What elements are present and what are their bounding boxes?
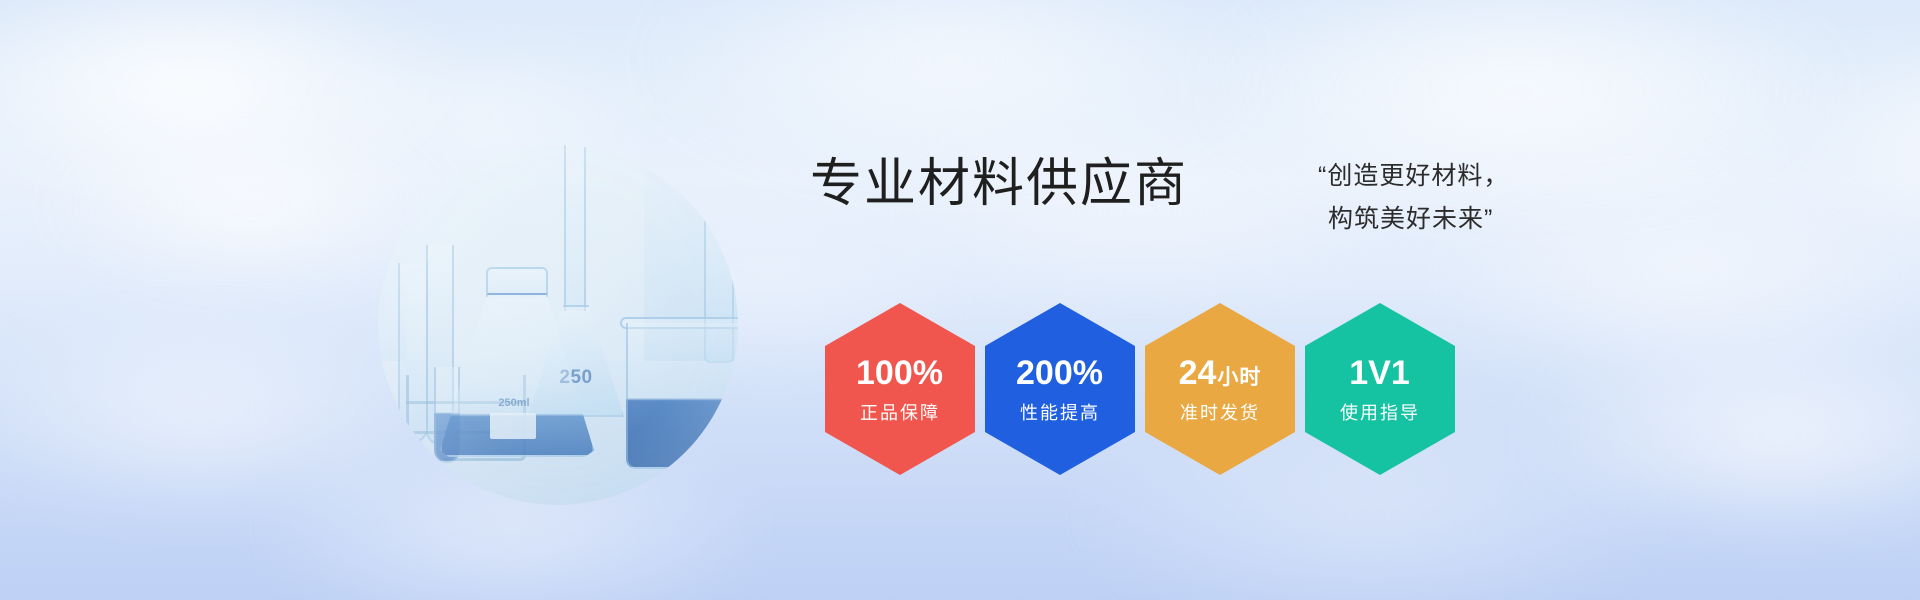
badge-label: 使用指导: [1340, 404, 1420, 422]
photo-background: 250 250ml: [378, 145, 738, 505]
badge-value: 1V1: [1349, 356, 1411, 390]
slogan-quote: “创造更好材料， 构筑美好未来”: [1318, 155, 1509, 241]
cloud-layer: [0, 0, 1920, 600]
cloud-shape: [1520, 330, 1920, 540]
badge-number: 200: [1016, 356, 1073, 390]
slogan-line-2: 构筑美好未来”: [1318, 198, 1509, 241]
badge-label: 性能提高: [1020, 404, 1100, 422]
badge-label: 正品保障: [860, 404, 940, 422]
badge-unit: 小时: [1217, 367, 1261, 388]
badge-performance[interactable]: 200% 性能提高: [985, 303, 1135, 475]
badge-guidance[interactable]: 1V1 使用指导: [1305, 303, 1455, 475]
badge-symbol: %: [1073, 356, 1103, 390]
cloud-shape: [1790, 40, 1920, 240]
photo-blue-tint-overlay: [378, 145, 738, 505]
badge-value: 200%: [1016, 356, 1104, 390]
badge-number: 100: [856, 356, 913, 390]
badge-number: 24: [1179, 356, 1217, 390]
badge-shipping[interactable]: 24小时 准时发货: [1145, 303, 1295, 475]
badge-label: 准时发货: [1180, 404, 1260, 422]
slogan-line-1: “创造更好材料，: [1318, 162, 1509, 190]
feature-badge-row: 100% 正品保障 200% 性能提高 24小时 准时发货 1V1 使用指导: [825, 303, 1455, 475]
cloud-shape: [1180, 0, 1860, 220]
badge-value: 100%: [856, 356, 944, 390]
badge-authenticity[interactable]: 100% 正品保障: [825, 303, 975, 475]
badge-value: 24小时: [1179, 356, 1262, 390]
hero-banner: 250 250ml 专业材料供应商 “创造更好材料， 构筑美好未来” 100% …: [0, 0, 1920, 600]
page-title: 专业材料供应商: [810, 158, 1188, 210]
laboratory-glassware-photo: 250 250ml: [378, 145, 738, 505]
badge-number: 1V1: [1349, 356, 1410, 390]
badge-symbol: %: [913, 356, 943, 390]
